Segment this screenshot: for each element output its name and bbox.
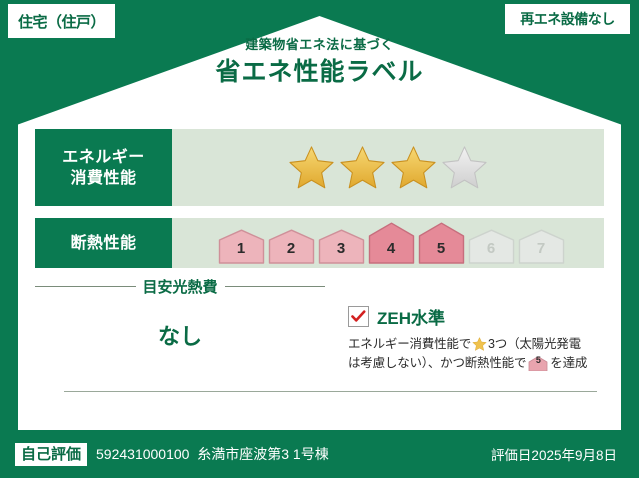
energy-label-line1: エネルギー [62,147,145,168]
label-title-block: 建築物省エネ法に基づく 省エネ性能ラベル [0,36,639,88]
building-type-text: 住宅（住戸） [18,11,105,32]
utility-cost-value: なし [35,319,325,351]
insulation-grade-scale: 1234567 [212,222,565,264]
insulation-grade-1: 1 [218,229,265,264]
insulation-grade-number: 4 [368,240,415,257]
card-content: エネルギー 消費性能 断熱性能 1234567 [18,129,621,430]
star-rating [288,145,488,190]
footer-left-group: 自己評価 592431000100 糸満市座波第3 1号棟 [0,443,329,466]
star-filled-icon [339,145,386,190]
insulation-grade-3: 3 [318,229,365,264]
energy-performance-label: エネルギー 消費性能 [35,129,172,206]
insulation-grade-number: 7 [518,240,565,257]
zeh-title: ZEH水準 [377,304,445,329]
zeh-desc-star-count: 3つ（太陽光発電 [488,337,581,351]
insulation-grade-number: 3 [318,240,365,257]
star-filled-icon [390,145,437,190]
insulation-grade-number: 2 [268,240,315,257]
utility-cost-heading-text: 目安光熱費 [143,276,218,297]
insulation-label-text: 断熱性能 [70,233,136,254]
page-title: 省エネ性能ラベル [0,56,639,88]
star-filled-icon [288,145,335,190]
rule-left [35,286,136,287]
insulation-grade-4: 4 [368,222,415,264]
grade-badge-inline: 5 [528,356,548,371]
renewable-energy-text: 再エネ設備なし [520,9,615,29]
insulation-grade-5: 5 [418,222,465,264]
star-inline-icon [472,337,487,351]
insulation-grade-number: 6 [468,240,515,257]
zeh-desc-part2: は考慮しない）、かつ断熱性能で [348,356,526,370]
zeh-desc-part3: を達成 [550,356,587,370]
energy-label-line2: 消費性能 [70,168,136,189]
insulation-grade-2: 2 [268,229,315,264]
rule-right [225,286,326,287]
zeh-header: ZEH水準 [348,304,607,329]
footer-address: 糸満市座波第3 1号棟 [197,446,328,462]
utility-cost-section: 目安光熱費 なし [35,276,325,351]
energy-performance-value [172,129,604,206]
building-type-badge: 住宅（住戸） [8,4,115,38]
checkbox-checked-icon [348,306,369,327]
energy-label-root: エネルギー 消費性能 断熱性能 1234567 [0,0,639,478]
label-footer: 自己評価 592431000100 糸満市座波第3 1号棟 評価日2025年9月… [0,430,639,478]
insulation-performance-row: 断熱性能 1234567 [35,218,604,268]
lower-divider [64,391,597,392]
evaluation-type-badge: 自己評価 [15,443,87,466]
utility-cost-heading: 目安光熱費 [35,276,325,297]
footer-id-number: 592431000100 [96,446,189,462]
insulation-performance-label: 断熱性能 [35,218,172,268]
grade-badge-inline-number: 5 [528,351,548,370]
title-subtitle: 建築物省エネ法に基づく [0,36,639,54]
evaluation-date: 評価日2025年9月8日 [491,444,639,464]
insulation-performance-value: 1234567 [172,218,604,268]
star-empty-icon [441,145,488,190]
zeh-description: エネルギー消費性能で3つ（太陽光発電 は考慮しない）、かつ断熱性能で5を達成 [348,335,607,373]
insulation-grade-7: 7 [518,229,565,264]
insulation-grade-number: 1 [218,240,265,257]
energy-performance-row: エネルギー 消費性能 [35,129,604,206]
zeh-desc-part1: エネルギー消費性能で [348,337,471,351]
insulation-grade-6: 6 [468,229,515,264]
renewable-energy-badge: 再エネ設備なし [505,4,630,34]
insulation-grade-number: 5 [418,240,465,257]
footer-identifier: 592431000100 糸満市座波第3 1号棟 [96,444,329,464]
zeh-standard-block: ZEH水準 エネルギー消費性能で3つ（太陽光発電 は考慮しない）、かつ断熱性能で… [348,304,607,373]
